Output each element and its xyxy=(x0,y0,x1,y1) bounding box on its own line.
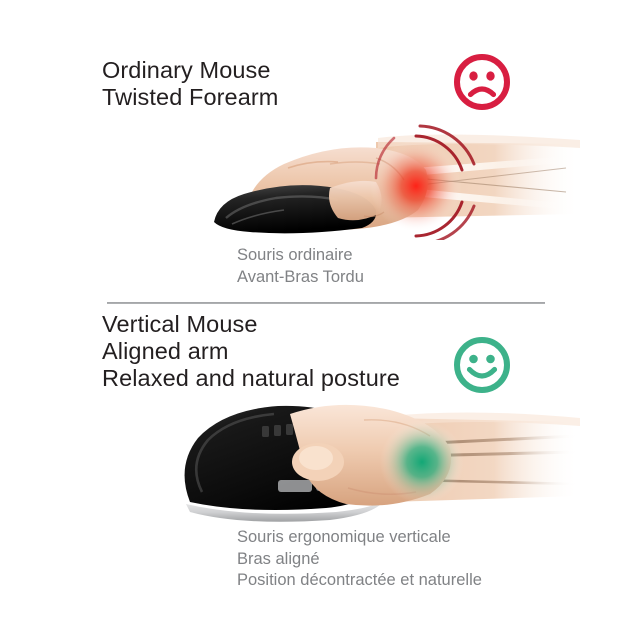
poster-canvas: Ordinary Mouse Twisted Forearm xyxy=(0,0,640,640)
illustration-hand-on-flat-mouse xyxy=(180,118,580,240)
sad-face-icon xyxy=(452,52,512,112)
caption-ordinary-mouse-fr: Souris ordinaire Avant-Bras Tordu xyxy=(237,245,364,288)
page-title-vertical-mouse: Vertical Mouse Aligned arm Relaxed and n… xyxy=(102,311,400,392)
section-divider xyxy=(107,302,545,304)
page-title-ordinary-mouse: Ordinary Mouse Twisted Forearm xyxy=(102,57,279,111)
caption-vertical-mouse-fr: Souris ergonomique verticale Bras aligné… xyxy=(237,527,482,592)
happy-face-icon xyxy=(452,335,512,395)
illustration-hand-on-vertical-mouse xyxy=(150,392,580,522)
